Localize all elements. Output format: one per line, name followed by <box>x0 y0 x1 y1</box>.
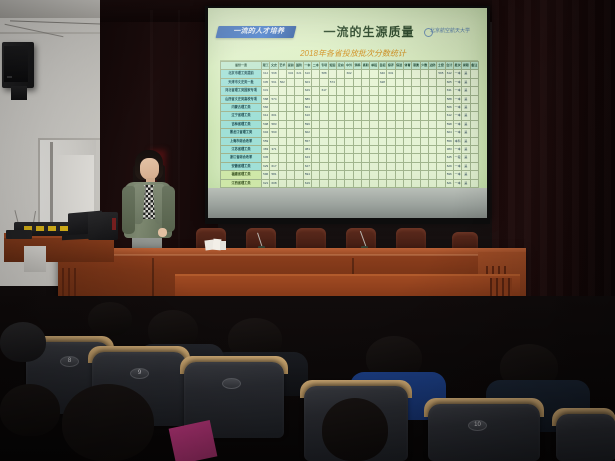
equipment-case-accent <box>112 218 116 230</box>
table-cell <box>337 78 345 86</box>
table-cell <box>470 70 478 78</box>
table-cell: 605 <box>445 78 453 86</box>
presenter-hand <box>158 228 167 237</box>
table-cell <box>353 120 361 128</box>
table-cell <box>428 112 436 120</box>
pink-booklet <box>169 420 218 461</box>
table-cell <box>420 154 428 162</box>
table-cell <box>362 154 370 162</box>
table-row-label: 江苏省理工类 <box>221 146 262 154</box>
table-cell <box>387 87 395 95</box>
table-cell: 619 <box>303 179 311 187</box>
table-cell <box>278 120 286 128</box>
table-cell <box>353 112 361 120</box>
table-cell <box>362 129 370 137</box>
table-cell: 是 <box>462 154 470 162</box>
table-cell <box>295 104 303 112</box>
table-cell: 605 <box>262 78 270 86</box>
table-cell <box>395 70 403 78</box>
table-cell: 640 <box>378 70 386 78</box>
table-row: 内蒙古理工类566564566一本是 <box>221 104 479 112</box>
table-cell <box>353 78 361 86</box>
table-cell: 596 <box>445 171 453 179</box>
table-column-header: 专项 <box>320 62 328 70</box>
table-cell <box>370 137 378 145</box>
table-cell <box>278 95 286 103</box>
table-cell <box>328 70 336 78</box>
table-cell <box>437 95 445 103</box>
table-cell <box>395 104 403 112</box>
table-cell <box>287 146 295 154</box>
table-row: 江西省理工类621608619621一本是 <box>221 179 479 187</box>
table-cell <box>395 162 403 170</box>
table-cell <box>378 171 386 179</box>
table-cell <box>420 129 428 137</box>
table-column-header: 边防 <box>428 62 436 70</box>
speaker-led <box>7 76 12 78</box>
table-cell <box>345 171 353 179</box>
table-cell <box>428 95 436 103</box>
table-cell <box>370 120 378 128</box>
table-cell <box>295 162 303 170</box>
table-cell <box>295 129 303 137</box>
table-cell <box>328 87 336 95</box>
table-cell: 621 <box>262 179 270 187</box>
table-cell <box>312 95 320 103</box>
table-column-header: 提前 <box>287 62 295 70</box>
screen-bottom-bar <box>205 218 490 224</box>
table-cell <box>420 70 428 78</box>
table-cell <box>278 171 286 179</box>
table-cell: 一本 <box>453 179 461 187</box>
table-cell <box>337 137 345 145</box>
table-cell: 383 <box>445 146 453 154</box>
table-cell <box>412 162 420 170</box>
table-cell: 595 <box>437 70 445 78</box>
table-cell <box>320 162 328 170</box>
table-cell <box>378 146 386 154</box>
table-cell: 612 <box>445 112 453 120</box>
table-cell <box>295 120 303 128</box>
table-cell <box>337 146 345 154</box>
table-cell <box>312 70 320 78</box>
table-cell: 一本 <box>453 87 461 95</box>
table-cell: 610 <box>303 70 311 78</box>
table-cell: 一本 <box>453 162 461 170</box>
table-cell <box>353 87 361 95</box>
table-cell: 610 <box>303 112 311 120</box>
table-cell <box>287 129 295 137</box>
table-cell: 是 <box>462 146 470 154</box>
table-cell <box>437 129 445 137</box>
table-cell <box>395 112 403 120</box>
table-cell <box>428 120 436 128</box>
table-cell <box>362 146 370 154</box>
table-cell <box>287 137 295 145</box>
table-cell <box>353 154 361 162</box>
table-cell <box>320 146 328 154</box>
table-cell: 629 <box>262 162 270 170</box>
table-cell <box>412 70 420 78</box>
table-cell <box>403 162 411 170</box>
table-cell: 是 <box>462 171 470 179</box>
table-cell <box>362 104 370 112</box>
table-cell <box>320 137 328 145</box>
table-cell: 是 <box>462 129 470 137</box>
table-cell: 一本 <box>453 120 461 128</box>
table-cell <box>420 87 428 95</box>
table-cell <box>437 171 445 179</box>
table-cell <box>328 146 336 154</box>
table-cell: 是 <box>462 78 470 86</box>
table-cell <box>295 154 303 162</box>
table-cell <box>353 146 361 154</box>
table-cell <box>362 70 370 78</box>
table-cell <box>287 120 295 128</box>
table-cell <box>328 154 336 162</box>
table-cell <box>378 120 386 128</box>
table-column-header: 文史 <box>270 62 278 70</box>
table-cell <box>437 104 445 112</box>
table-cell <box>428 146 436 154</box>
table-cell <box>420 146 428 154</box>
table-cell <box>328 95 336 103</box>
table-cell <box>378 179 386 187</box>
table-row: 安徽省理工类629617627629一本是 <box>221 162 479 170</box>
table-cell <box>337 112 345 120</box>
table-column-header: 贫困 <box>328 62 336 70</box>
table-cell: 631 <box>387 70 395 78</box>
table-cell <box>412 137 420 145</box>
table-cell <box>428 78 436 86</box>
table-cell: 629 <box>303 87 311 95</box>
table-cell <box>337 95 345 103</box>
table-cell <box>403 154 411 162</box>
audience-seat <box>556 414 615 461</box>
table-cell <box>312 104 320 112</box>
seat-number-badge: 10 <box>468 420 487 431</box>
table-cell: 612 <box>262 112 270 120</box>
table-cell <box>337 120 345 128</box>
speaker-mount-bracket <box>11 86 27 100</box>
table-cell <box>378 137 386 145</box>
table-cell <box>312 112 320 120</box>
table-row: 辽宁省理工类612601610612一本是 <box>221 112 479 120</box>
presenter-arm <box>162 186 175 232</box>
table-cell <box>370 70 378 78</box>
table-cell: 631 <box>262 87 270 95</box>
table-cell <box>412 104 420 112</box>
table-cell <box>287 87 295 95</box>
table-cell <box>353 104 361 112</box>
auditorium-presentation-photo: 一流的人才培养 一流的生源质量 北京航空航天大学 2018年各省投放批次分数统计… <box>0 0 615 461</box>
table-row-label: 浙江省综合改革 <box>221 154 262 162</box>
table-cell <box>328 112 336 120</box>
table-cell <box>328 171 336 179</box>
table-row: 北京市理工类提前61259863462161058860264063159561… <box>221 70 479 78</box>
table-cell <box>345 154 353 162</box>
table-cell: 566 <box>445 104 453 112</box>
table-cell <box>403 146 411 154</box>
table-cell <box>345 120 353 128</box>
table-cell <box>287 112 295 120</box>
table-cell: 564 <box>303 104 311 112</box>
table-cell <box>328 137 336 145</box>
table-cell <box>437 87 445 95</box>
table-cell <box>287 104 295 112</box>
table-cell <box>437 154 445 162</box>
table-row: 福建省理工类596581594596一本是 <box>221 171 479 179</box>
table-cell <box>420 78 428 86</box>
screen-lower-blank-area <box>208 188 487 220</box>
slide-data-table: 省份一览理工文史艺术提前国防一本二本专项贫困定向中外预科高职单招自招综评保送体育… <box>220 61 479 181</box>
table-column-header: 备注 <box>470 62 478 70</box>
table-cell <box>470 120 478 128</box>
table-cell <box>412 154 420 162</box>
table-row-label: 内蒙古理工类 <box>221 104 262 112</box>
presentation-slide: 一流的人才培养 一流的生源质量 北京航空航天大学 2018年各省投放批次分数统计… <box>208 8 487 190</box>
slide-title: 一流的生源质量 <box>314 24 424 40</box>
table-cell <box>295 146 303 154</box>
table-cell <box>378 154 386 162</box>
table-column-header: 综评 <box>387 62 395 70</box>
table-cell: 608 <box>270 179 278 187</box>
seat-number-badge: 9 <box>130 368 149 379</box>
table-cell: 是 <box>462 137 470 145</box>
table-cell <box>470 95 478 103</box>
table-cell <box>362 137 370 145</box>
table-cell: 是 <box>462 104 470 112</box>
table-cell <box>345 146 353 154</box>
table-cell <box>337 154 345 162</box>
table-cell <box>470 129 478 137</box>
table-cell <box>320 129 328 137</box>
table-column-header: 高职 <box>362 62 370 70</box>
table-row-label: 上海市综合改革 <box>221 137 262 145</box>
table-column-header: 单招 <box>370 62 378 70</box>
table-cell <box>312 154 320 162</box>
table-cell <box>428 154 436 162</box>
table-cell: 一本 <box>453 146 461 154</box>
table-cell: 604 <box>262 129 270 137</box>
table-cell <box>470 154 478 162</box>
table-cell <box>412 78 420 86</box>
table-cell <box>395 154 403 162</box>
table-cell <box>378 104 386 112</box>
table-cell: 是 <box>462 95 470 103</box>
table-cell <box>437 112 445 120</box>
table-cell: 617 <box>320 87 328 95</box>
table-column-header: 中外 <box>345 62 353 70</box>
table-cell: 是 <box>462 112 470 120</box>
table-cell <box>420 137 428 145</box>
table-row-label: 江西省理工类 <box>221 179 262 187</box>
table-cell <box>403 78 411 86</box>
table-cell <box>295 137 303 145</box>
table-cell: 621 <box>445 179 453 187</box>
table-cell <box>370 171 378 179</box>
table-cell: 383 <box>262 146 270 154</box>
table-cell <box>470 146 478 154</box>
table-cell <box>403 70 411 78</box>
table-cell: 601 <box>270 112 278 120</box>
table-cell <box>387 137 395 145</box>
table-cell <box>328 120 336 128</box>
audience-head <box>62 384 154 461</box>
table-cell: 604 <box>445 129 453 137</box>
table-row-label: 天津市文史类一批 <box>221 78 262 86</box>
table-cell <box>395 146 403 154</box>
table-cell: 591 <box>270 78 278 86</box>
table-column-header: 二本 <box>312 62 320 70</box>
audio-device <box>6 230 32 239</box>
table-cell <box>428 137 436 145</box>
audience-head <box>322 398 388 461</box>
audience-head <box>0 384 60 436</box>
table-cell <box>320 112 328 120</box>
table-column-header: 艺术 <box>278 62 286 70</box>
table-cell <box>395 137 403 145</box>
table-cell <box>412 179 420 187</box>
table-cell <box>362 179 370 187</box>
table-cell <box>470 179 478 187</box>
door-post <box>50 142 53 230</box>
table-cell: 574 <box>328 78 336 86</box>
audience-seat <box>428 404 540 461</box>
table-cell <box>387 179 395 187</box>
table-cell: 559 <box>262 137 270 145</box>
table-cell: 一本 <box>453 95 461 103</box>
table-cell <box>312 146 320 154</box>
table-cell <box>295 171 303 179</box>
table-cell <box>287 154 295 162</box>
table-cell <box>470 171 478 179</box>
table-cell <box>295 87 303 95</box>
table-cell: 645 <box>262 154 270 162</box>
table-cell <box>387 104 395 112</box>
table-cell <box>362 120 370 128</box>
projection-screen: 一流的人才培养 一流的生源质量 北京航空航天大学 2018年各省投放批次分数统计… <box>208 8 487 190</box>
table-cell: 594 <box>303 171 311 179</box>
table-column-header: 定向 <box>337 62 345 70</box>
score-statistics-table: 省份一览理工文史艺术提前国防一本二本专项贫困定向中外预科高职单招自招综评保送体育… <box>220 61 479 190</box>
table-cell <box>403 87 411 95</box>
table-row: 山西省文史类高校专项588574586588一本是 <box>221 95 479 103</box>
table-cell <box>320 120 328 128</box>
table-cell <box>370 162 378 170</box>
table-cell <box>470 112 478 120</box>
table-cell <box>295 112 303 120</box>
table-cell <box>353 171 361 179</box>
table-cell: 是 <box>462 87 470 95</box>
table-cell <box>295 179 303 187</box>
table-cell <box>403 120 411 128</box>
table-cell: 598 <box>270 70 278 78</box>
table-column-header: 一本 <box>303 62 311 70</box>
table-cell <box>287 162 295 170</box>
table-cell <box>278 154 286 162</box>
table-cell: 612 <box>445 70 453 78</box>
table-cell: 588 <box>320 70 328 78</box>
table-cell: 一段 <box>453 154 461 162</box>
table-cell <box>412 120 420 128</box>
table-cell <box>428 179 436 187</box>
table-cell <box>412 95 420 103</box>
table-cell <box>370 78 378 86</box>
table-cell <box>437 179 445 187</box>
table-cell <box>403 104 411 112</box>
table-cell <box>395 95 403 103</box>
table-row-label: 安徽省理工类 <box>221 162 262 170</box>
table-cell: 598 <box>445 120 453 128</box>
table-corner-header: 省份一览 <box>221 62 262 70</box>
table-column-header: 理工 <box>262 62 270 70</box>
table-column-header: 士官 <box>437 62 445 70</box>
table-cell <box>295 95 303 103</box>
table-cell <box>320 171 328 179</box>
table-cell: 557 <box>303 137 311 145</box>
table-cell <box>428 70 436 78</box>
slide-subtitle: 2018年各省投放批次分数统计 <box>268 48 438 59</box>
table-cell <box>270 104 278 112</box>
table-cell <box>287 78 295 86</box>
table-cell <box>337 129 345 137</box>
table-cell: 631 <box>445 87 453 95</box>
table-cell: 598 <box>262 120 270 128</box>
table-cell <box>378 112 386 120</box>
table-cell <box>320 179 328 187</box>
table-cell <box>353 179 361 187</box>
table-row-label: 辽宁省理工类 <box>221 112 262 120</box>
table-cell: 一本 <box>453 78 461 86</box>
table-cell <box>420 104 428 112</box>
table-cell <box>420 162 428 170</box>
table-cell <box>470 137 478 145</box>
table-cell <box>278 162 286 170</box>
table-cell: 本科 <box>453 137 461 145</box>
table-cell <box>312 120 320 128</box>
table-cell <box>387 154 395 162</box>
table-cell <box>437 162 445 170</box>
audience-head <box>0 322 46 362</box>
table-cell <box>345 129 353 137</box>
table-cell <box>362 112 370 120</box>
table-cell <box>287 171 295 179</box>
table-cell: 559 <box>445 137 453 145</box>
table-cell <box>278 104 286 112</box>
table-cell <box>278 70 286 78</box>
table-cell <box>278 129 286 137</box>
table-cell <box>428 129 436 137</box>
table-cell <box>395 87 403 95</box>
paper-on-table <box>220 241 226 250</box>
table-cell <box>337 104 345 112</box>
table-header-row: 省份一览理工文史艺术提前国防一本二本专项贫困定向中外预科高职单招自招综评保送体育… <box>221 62 479 70</box>
table-cell <box>362 78 370 86</box>
table-cell <box>403 112 411 120</box>
table-cell <box>353 137 361 145</box>
table-cell <box>337 162 345 170</box>
table-cell <box>328 179 336 187</box>
table-column-header: 预科 <box>353 62 361 70</box>
slide-university-logo-text: 北京航空航天大学 <box>430 26 482 37</box>
table-cell <box>403 129 411 137</box>
table-column-header: 保送 <box>395 62 403 70</box>
table-row-label: 河北省理工类国家专项 <box>221 87 262 95</box>
seat-number-badge <box>222 378 241 389</box>
table-cell: 一本 <box>453 70 461 78</box>
table-cell: 602 <box>345 70 353 78</box>
